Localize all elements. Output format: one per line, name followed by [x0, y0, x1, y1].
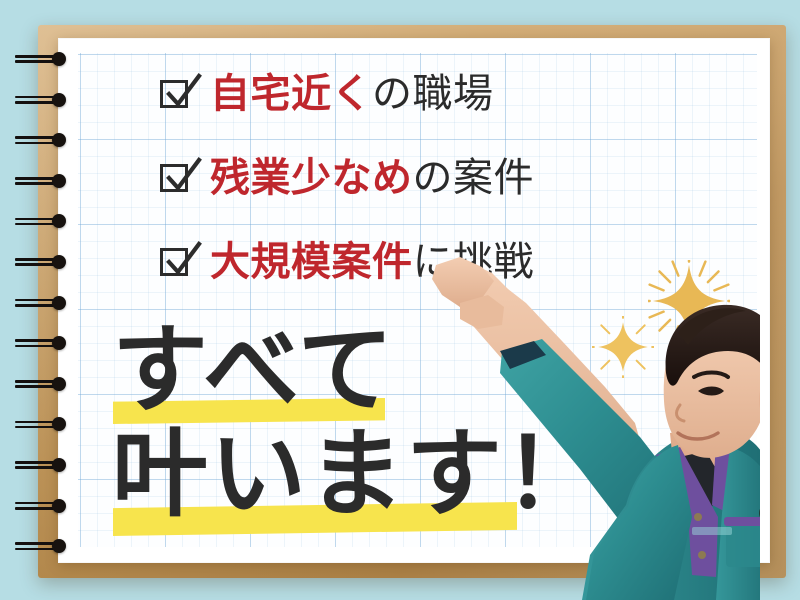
- ring-knob: [52, 52, 66, 66]
- spiral-binding: [0, 0, 120, 600]
- ring-knob: [52, 336, 66, 350]
- checklist-item-3-highlight: 大規模案件: [210, 239, 413, 285]
- checkbox-checked-icon[interactable]: [160, 162, 194, 196]
- ring-knob: [52, 458, 66, 472]
- checkbox-checked-icon[interactable]: [160, 78, 194, 112]
- ring-knob: [52, 417, 66, 431]
- ring-knob: [52, 214, 66, 228]
- checklist-item-2-highlight: 残業少なめ: [210, 155, 413, 201]
- checkbox-checked-icon[interactable]: [160, 246, 194, 280]
- checklist-item-2-plain: の案件: [413, 155, 535, 201]
- poster-canvas: 自宅近くの職場 残業少なめの案件 大規模案件に挑戦 すべ: [0, 0, 800, 600]
- worker-photo: [430, 255, 800, 600]
- checklist-item-1-highlight: 自宅近く: [210, 71, 372, 117]
- ring-knob: [52, 255, 66, 269]
- ring-knob: [52, 174, 66, 188]
- checklist-item-1-text: 自宅近くの職場: [210, 73, 494, 115]
- ring-knob: [52, 133, 66, 147]
- checkmark-icon: [162, 157, 202, 197]
- checklist-item-1[interactable]: 自宅近くの職場: [160, 52, 680, 136]
- ring-knob: [52, 377, 66, 391]
- checkmark-icon: [162, 241, 202, 281]
- ring-knob: [52, 499, 66, 513]
- headline-line-1-text: すべて: [112, 314, 395, 426]
- checklist-item-2[interactable]: 残業少なめの案件: [160, 136, 680, 220]
- checklist-item-1-plain: の職場: [372, 71, 494, 117]
- checklist-item-2-text: 残業少なめの案件: [210, 157, 534, 199]
- ring-knob: [52, 539, 66, 553]
- checkmark-icon: [162, 73, 202, 113]
- ring-knob: [52, 296, 66, 310]
- ring-knob: [52, 93, 66, 107]
